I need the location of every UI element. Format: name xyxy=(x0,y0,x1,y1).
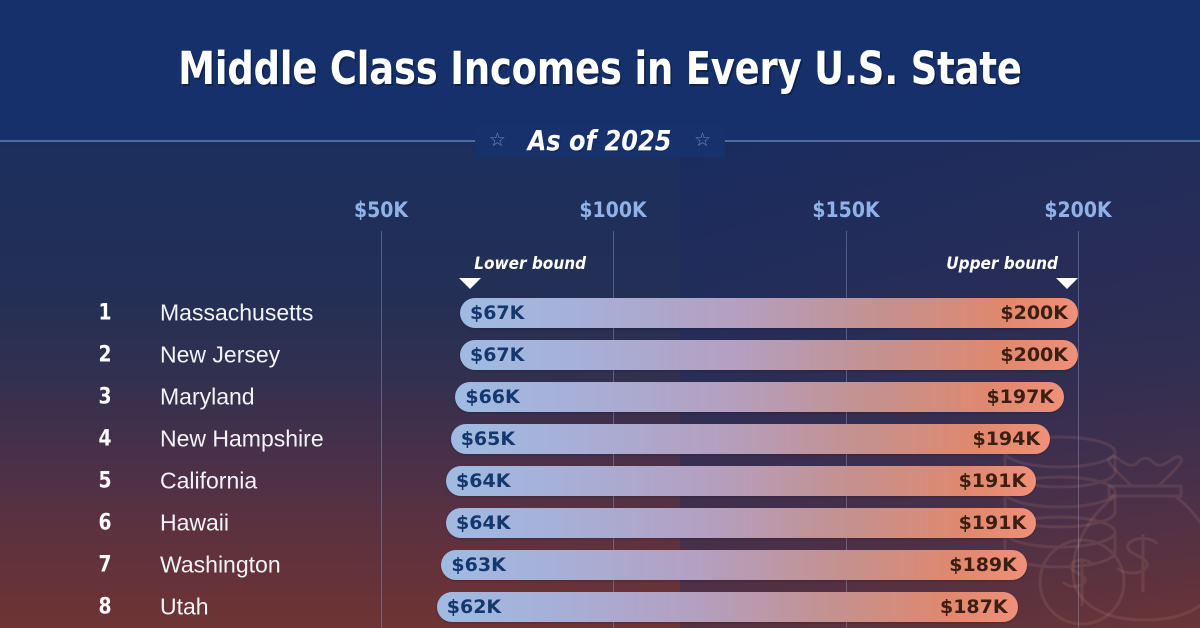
rank-number: 3 xyxy=(84,385,127,410)
income-range-bar[interactable]: $67K$200K xyxy=(460,340,1078,370)
header: Middle Class Incomes in Every U.S. State xyxy=(0,0,1200,141)
income-range-bar[interactable]: $63K$189K xyxy=(441,550,1026,580)
state-name-label: Hawaii xyxy=(160,510,229,537)
upper-bound-value: $197K xyxy=(986,386,1054,408)
table-row[interactable]: 1Massachusetts$67K$200K xyxy=(0,292,1200,334)
lower-bound-value: $65K xyxy=(461,428,515,450)
page-title: Middle Class Incomes in Every U.S. State xyxy=(108,42,1092,95)
state-name-label: Maryland xyxy=(160,384,255,411)
income-range-bar[interactable]: $62K$187K xyxy=(437,592,1018,622)
lower-bound-arrow-icon xyxy=(459,278,481,289)
table-row[interactable]: 3Maryland$66K$197K xyxy=(0,376,1200,418)
rank-number: 5 xyxy=(84,469,127,494)
upper-bound-value: $187K xyxy=(940,596,1008,618)
income-range-bar[interactable]: $66K$197K xyxy=(455,382,1064,412)
x-axis-tick-label: $100K xyxy=(579,198,646,222)
rank-number: 2 xyxy=(84,343,127,368)
table-row[interactable]: 7Washington$63K$189K xyxy=(0,544,1200,586)
infographic-canvas: Middle Class Incomes in Every U.S. State… xyxy=(0,0,1200,628)
lower-bound-note: Lower bound xyxy=(474,254,586,274)
income-range-bar[interactable]: $64K$191K xyxy=(446,466,1036,496)
upper-bound-value: $200K xyxy=(1000,302,1068,324)
upper-bound-arrow-icon xyxy=(1056,278,1078,289)
lower-bound-value: $67K xyxy=(470,344,524,366)
table-row[interactable]: 2New Jersey$67K$200K xyxy=(0,334,1200,376)
rank-number: 1 xyxy=(84,301,127,326)
table-row[interactable]: 8Utah$62K$187K xyxy=(0,586,1200,628)
table-row[interactable]: 5California$64K$191K xyxy=(0,460,1200,502)
lower-bound-value: $64K xyxy=(456,512,510,534)
state-name-label: New Hampshire xyxy=(160,426,324,453)
lower-bound-value: $63K xyxy=(451,554,505,576)
subtitle-row: ☆ As of 2025 ☆ xyxy=(0,124,1200,157)
upper-bound-note: Upper bound xyxy=(946,254,1058,274)
income-range-bar[interactable]: $64K$191K xyxy=(446,508,1036,538)
table-row[interactable]: 6Hawaii$64K$191K xyxy=(0,502,1200,544)
x-axis-tick-label: $50K xyxy=(354,198,408,222)
upper-bound-value: $200K xyxy=(1000,344,1068,366)
table-row[interactable]: 4New Hampshire$65K$194K xyxy=(0,418,1200,460)
x-axis-tick-label: $200K xyxy=(1044,198,1111,222)
upper-bound-value: $191K xyxy=(959,512,1027,534)
star-left-icon: ☆ xyxy=(489,130,506,151)
x-axis-tick-label: $150K xyxy=(812,198,879,222)
rank-number: 4 xyxy=(84,427,127,452)
state-name-label: Utah xyxy=(160,594,209,621)
income-range-bar[interactable]: $67K$200K xyxy=(460,298,1078,328)
state-name-label: California xyxy=(160,468,257,495)
rank-number: 6 xyxy=(84,511,127,536)
chart-area: $50K$100K$150K$200K Lower bound Upper bo… xyxy=(0,141,1200,628)
upper-bound-value: $189K xyxy=(949,554,1017,576)
lower-bound-value: $62K xyxy=(447,596,501,618)
subtitle: As of 2025 xyxy=(528,124,672,157)
state-name-label: New Jersey xyxy=(160,342,280,369)
lower-bound-value: $67K xyxy=(470,302,524,324)
income-range-bar[interactable]: $65K$194K xyxy=(451,424,1050,454)
upper-bound-value: $191K xyxy=(959,470,1027,492)
state-name-label: Massachusetts xyxy=(160,300,313,327)
rank-number: 8 xyxy=(84,595,127,620)
lower-bound-value: $64K xyxy=(456,470,510,492)
state-name-label: Washington xyxy=(160,552,281,579)
lower-bound-value: $66K xyxy=(465,386,519,408)
star-right-icon: ☆ xyxy=(694,130,711,151)
upper-bound-value: $194K xyxy=(972,428,1040,450)
rank-number: 7 xyxy=(84,553,127,578)
